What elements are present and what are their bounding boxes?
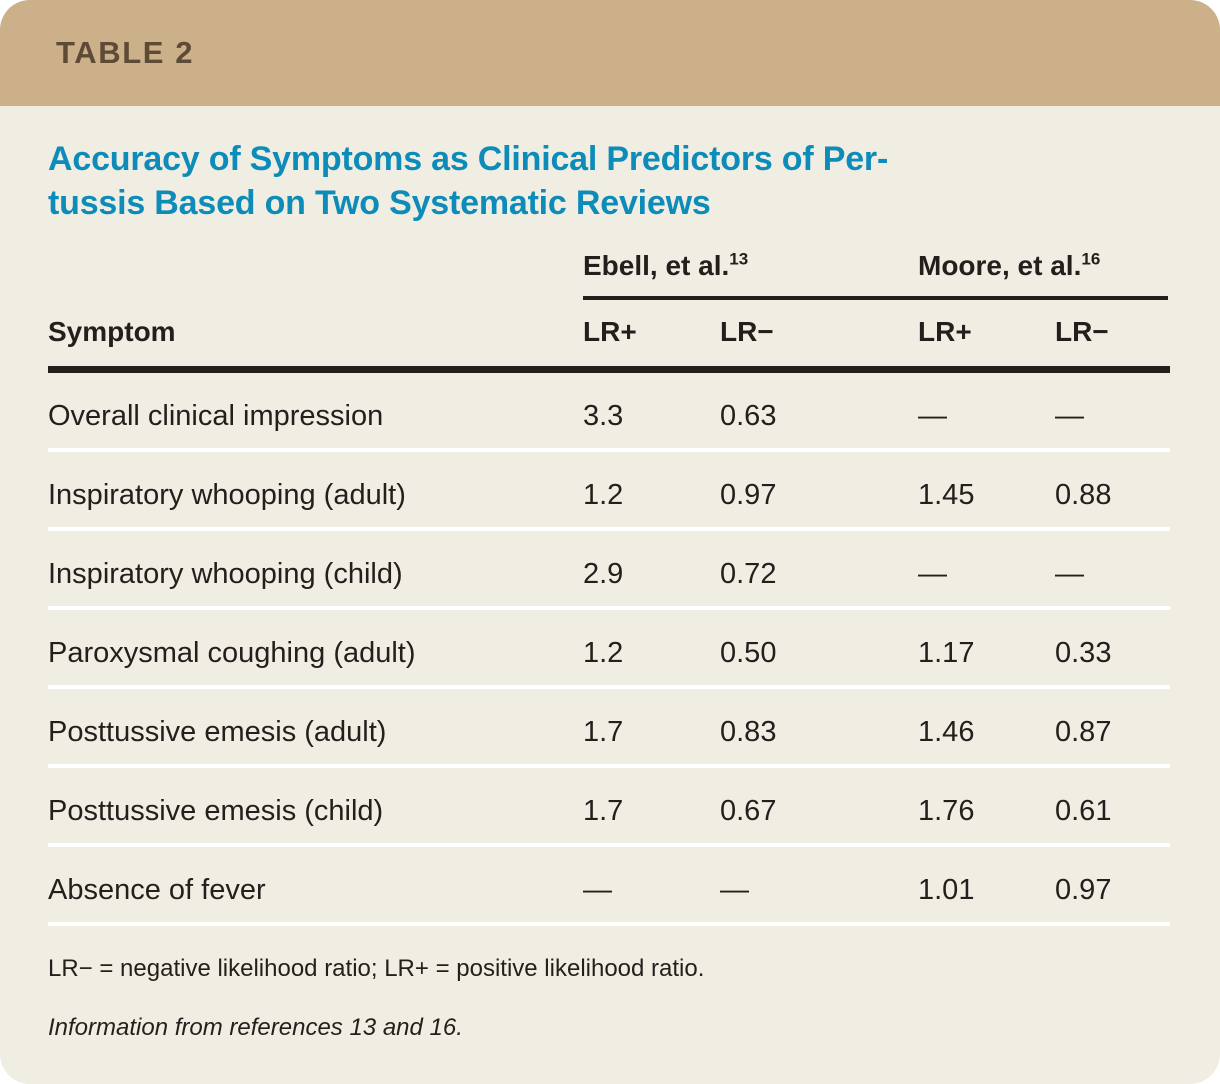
- table-row: Paroxysmal coughing (adult)1.20.501.170.…: [48, 610, 1170, 689]
- table-number-band: TABLE 2: [0, 0, 1220, 106]
- column-header-ebell-lr-neg: LR−: [720, 316, 774, 347]
- cell-symptom: Inspiratory whooping (child): [48, 531, 583, 591]
- cell-moore_lr_neg: 0.87: [1055, 689, 1192, 749]
- group-header-moore-ref: 16: [1081, 250, 1100, 269]
- group-header-ebell: Ebell, et al.13: [583, 251, 918, 282]
- cell-symptom: Posttussive emesis (child): [48, 768, 583, 828]
- column-header-moore-lr-neg: LR−: [1055, 316, 1109, 347]
- cell-symptom: Absence of fever: [48, 847, 583, 907]
- footnote-abbreviations: LR− = negative likelihood ratio; LR+ = p…: [48, 952, 1170, 987]
- cell-ebell_lr_neg: 0.83: [720, 689, 857, 749]
- table-row: Overall clinical impression3.30.63——: [48, 373, 1170, 452]
- cell-moore_lr_neg: —: [1055, 531, 1192, 591]
- table-footnotes: LR− = negative likelihood ratio; LR+ = p…: [48, 926, 1170, 1046]
- cell-ebell_lr_neg: 0.67: [720, 768, 857, 828]
- table-rows: Overall clinical impression3.30.63——Insp…: [48, 373, 1170, 926]
- cell-ebell_lr_pos: —: [583, 847, 720, 907]
- cell-moore_lr_pos: 1.76: [918, 768, 1055, 828]
- cell-ebell_lr_neg: 0.97: [720, 452, 857, 512]
- cell-moore_lr_pos: —: [918, 531, 1055, 591]
- cell-ebell_lr_pos: 2.9: [583, 531, 720, 591]
- table-row: Absence of fever——1.010.97: [48, 847, 1170, 926]
- cell-symptom: Posttussive emesis (adult): [48, 689, 583, 749]
- table-row: Posttussive emesis (adult)1.70.831.460.8…: [48, 689, 1170, 768]
- table-row: Inspiratory whooping (child)2.90.72——: [48, 531, 1170, 610]
- cell-ebell_lr_neg: 0.50: [720, 610, 857, 670]
- cell-ebell_lr_pos: 1.7: [583, 689, 720, 749]
- column-header-moore-lr-pos: LR+: [918, 316, 972, 347]
- cell-moore_lr_neg: —: [1055, 373, 1192, 433]
- cell-moore_lr_neg: 0.61: [1055, 768, 1192, 828]
- table-number-label: TABLE 2: [56, 35, 194, 71]
- group-header-moore: Moore, et al.16: [918, 251, 1220, 282]
- table-row: Posttussive emesis (child)1.70.671.760.6…: [48, 768, 1170, 847]
- footnote-source: Information from references 13 and 16.: [48, 987, 1170, 1046]
- group-header-rule: [583, 296, 1168, 300]
- cell-ebell_lr_neg: 0.72: [720, 531, 857, 591]
- table-row: Inspiratory whooping (adult)1.20.971.450…: [48, 452, 1170, 531]
- cell-ebell_lr_neg: 0.63: [720, 373, 857, 433]
- group-header-moore-label: Moore, et al.: [918, 250, 1081, 281]
- table-body: Accuracy of Symptoms as Clinical Predict…: [0, 106, 1220, 1046]
- cell-moore_lr_neg: 0.97: [1055, 847, 1192, 907]
- cell-moore_lr_pos: 1.45: [918, 452, 1055, 512]
- cell-symptom: Overall clinical impression: [48, 373, 583, 433]
- cell-moore_lr_pos: 1.46: [918, 689, 1055, 749]
- table-grid: Ebell, et al.13 Moore, et al.16 Symptom …: [48, 251, 1170, 926]
- cell-moore_lr_pos: 1.17: [918, 610, 1055, 670]
- cell-ebell_lr_neg: —: [720, 847, 857, 907]
- cell-moore_lr_pos: 1.01: [918, 847, 1055, 907]
- group-header-ebell-ref: 13: [729, 250, 748, 269]
- cell-ebell_lr_pos: 1.7: [583, 768, 720, 828]
- column-header-row: Symptom LR+ LR− LR+ LR−: [48, 316, 1170, 348]
- cell-ebell_lr_pos: 3.3: [583, 373, 720, 433]
- cell-symptom: Paroxysmal coughing (adult): [48, 610, 583, 670]
- group-header-ebell-label: Ebell, et al.: [583, 250, 729, 281]
- column-header-symptom: Symptom: [48, 316, 176, 347]
- header-bottom-rule: [48, 366, 1170, 373]
- cell-moore_lr_pos: —: [918, 373, 1055, 433]
- table-card: TABLE 2 Accuracy of Symptoms as Clinical…: [0, 0, 1220, 1084]
- group-header-row: Ebell, et al.13 Moore, et al.16: [48, 251, 1170, 282]
- column-header-ebell-lr-pos: LR+: [583, 316, 637, 347]
- cell-moore_lr_neg: 0.33: [1055, 610, 1192, 670]
- cell-symptom: Inspiratory whooping (adult): [48, 452, 583, 512]
- cell-moore_lr_neg: 0.88: [1055, 452, 1192, 512]
- cell-ebell_lr_pos: 1.2: [583, 452, 720, 512]
- cell-ebell_lr_pos: 1.2: [583, 610, 720, 670]
- table-title: Accuracy of Symptoms as Clinical Predict…: [48, 106, 1168, 225]
